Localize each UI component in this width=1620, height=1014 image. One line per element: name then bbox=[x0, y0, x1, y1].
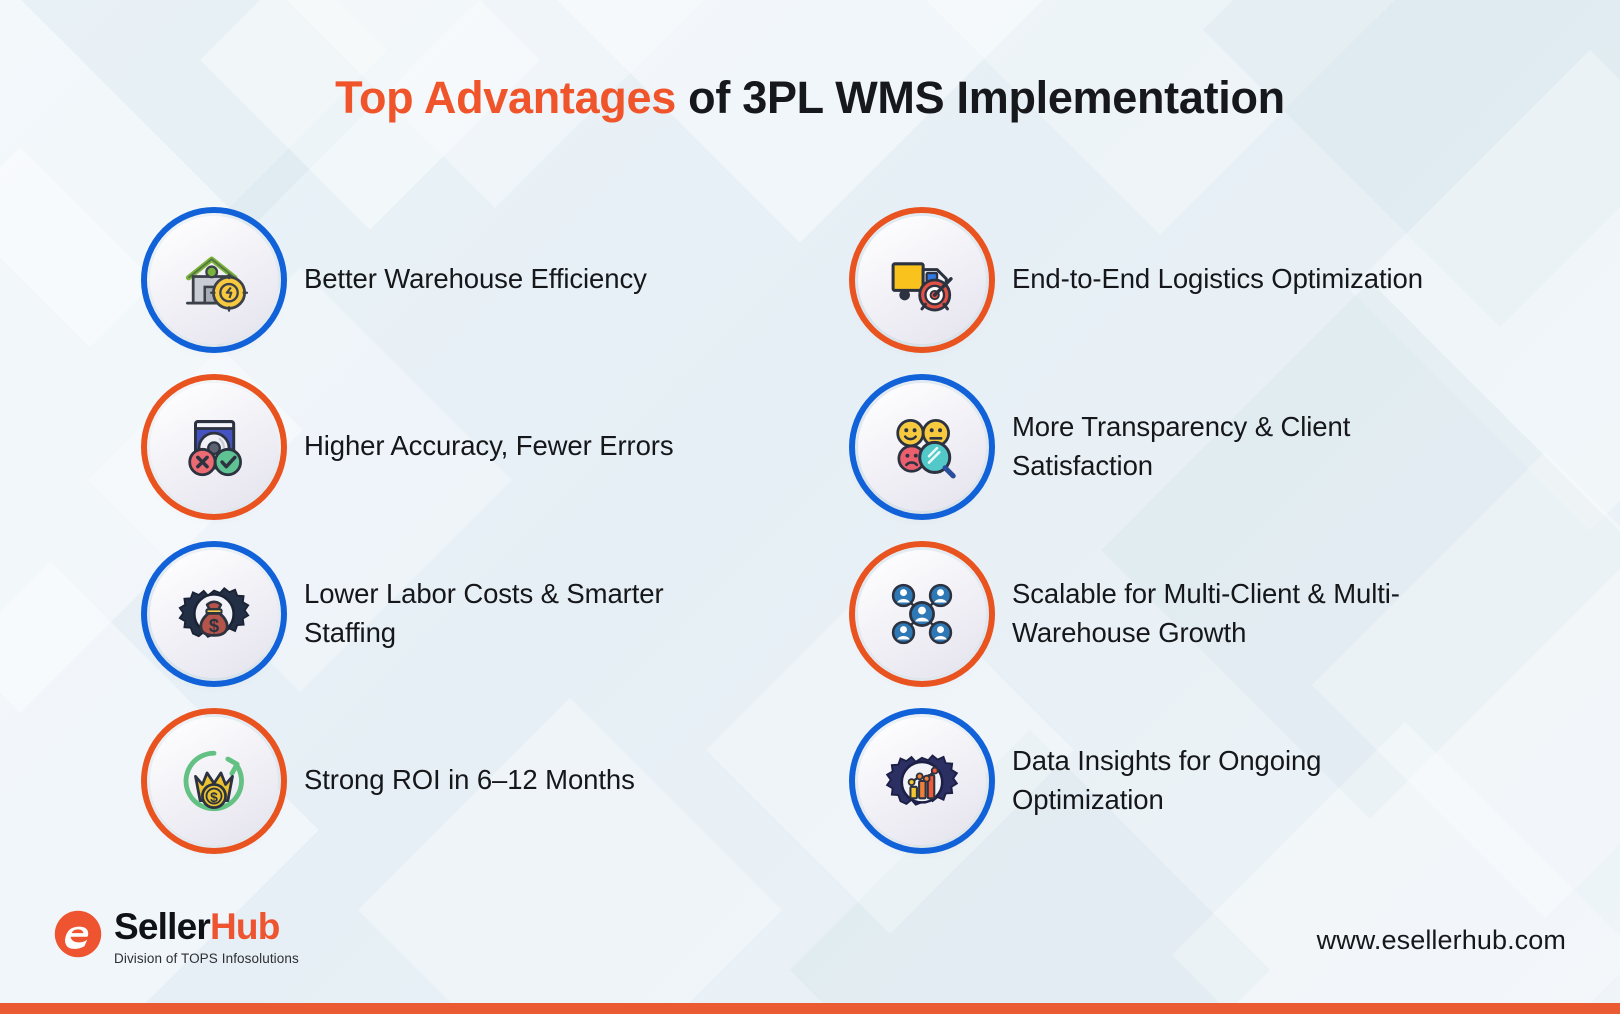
advantage-label: End-to-End Logistics Optimization bbox=[1012, 260, 1423, 299]
brand-logo: SellerHub Division of TOPS Infosolutions bbox=[52, 906, 299, 966]
page-title: Top Advantages of 3PL WMS Implementation bbox=[0, 72, 1620, 124]
feedback-magnifier-icon bbox=[858, 383, 986, 511]
advantage-label: Better Warehouse Efficiency bbox=[304, 260, 647, 299]
advantage-item-lower-labor-costs: $ Lower Labor Costs & Smarter Staffing bbox=[150, 530, 820, 697]
roi-crown-coin-icon: $ bbox=[150, 717, 278, 845]
logo-primary-text: Seller bbox=[114, 906, 210, 947]
logo-secondary-text: Hub bbox=[210, 906, 280, 947]
advantage-item-transparency-satisfaction: More Transparency & Client Satisfaction bbox=[820, 363, 1490, 530]
website-url: www.esellerhub.com bbox=[1317, 925, 1566, 956]
title-highlight: Top Advantages bbox=[335, 72, 676, 123]
svg-text:$: $ bbox=[209, 614, 220, 635]
title-rest: of 3PL WMS Implementation bbox=[676, 72, 1285, 123]
user-network-icon bbox=[858, 550, 986, 678]
svg-text:$: $ bbox=[210, 788, 218, 804]
warehouse-gear-icon bbox=[150, 216, 278, 344]
advantage-item-logistics-optimization: End-to-End Logistics Optimization bbox=[820, 196, 1490, 363]
advantage-label: Strong ROI in 6–12 Months bbox=[304, 761, 635, 800]
money-bag-gear-icon: $ bbox=[150, 550, 278, 678]
advantage-item-higher-accuracy: Higher Accuracy, Fewer Errors bbox=[150, 363, 820, 530]
logo-tagline: Division of TOPS Infosolutions bbox=[114, 951, 299, 966]
advantage-label: Scalable for Multi-Client & Multi-Wareho… bbox=[1012, 575, 1442, 652]
advantage-item-scalable-multiclient: Scalable for Multi-Client & Multi-Wareho… bbox=[820, 530, 1490, 697]
advantage-label: Data Insights for Ongoing Optimization bbox=[1012, 742, 1442, 819]
truck-target-icon bbox=[858, 216, 986, 344]
gear-analytics-icon bbox=[858, 717, 986, 845]
e-logo-icon bbox=[52, 908, 104, 960]
advantage-label: Higher Accuracy, Fewer Errors bbox=[304, 427, 673, 466]
advantage-item-data-insights: Data Insights for Ongoing Optimization bbox=[820, 697, 1490, 864]
bottom-accent-bar bbox=[0, 1003, 1620, 1014]
advantage-item-warehouse-efficiency: Better Warehouse Efficiency bbox=[150, 196, 820, 363]
scanner-check-cross-icon bbox=[150, 383, 278, 511]
advantage-item-strong-roi: $ Strong ROI in 6–12 Months bbox=[150, 697, 820, 864]
advantage-label: Lower Labor Costs & Smarter Staffing bbox=[304, 575, 734, 652]
advantage-label: More Transparency & Client Satisfaction bbox=[1012, 408, 1442, 485]
advantages-grid: Better Warehouse Efficiency End-t bbox=[150, 196, 1490, 864]
